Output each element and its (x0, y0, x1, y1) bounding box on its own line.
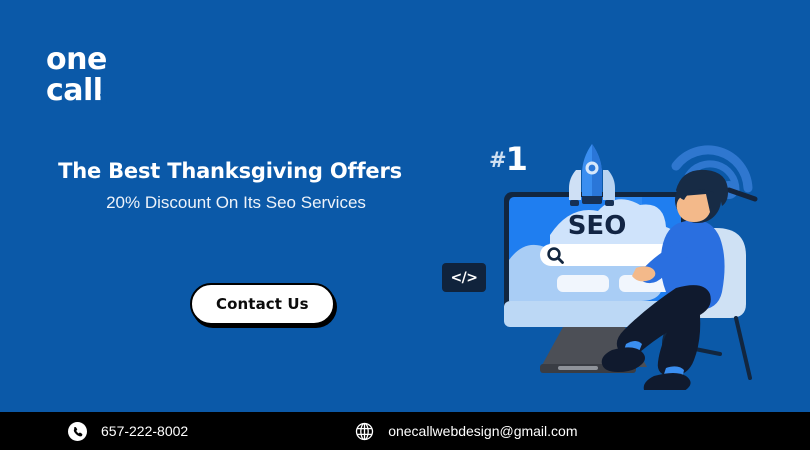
globe-icon (355, 422, 374, 441)
page-subtitle: 20% Discount On Its Seo Services (0, 192, 430, 214)
cta-container: Contact Us (190, 283, 335, 325)
footer-bar: 657-222-8002 onecallwebdesign@gmail.com (0, 412, 810, 450)
rank-number: 1 (506, 140, 527, 178)
rocket-icon (569, 144, 615, 206)
email-address: onecallwebdesign@gmail.com (388, 423, 577, 439)
contact-us-button[interactable]: Contact Us (190, 283, 335, 325)
phone-number: 657-222-8002 (101, 423, 188, 439)
logo-line-one: one (46, 44, 176, 75)
logo-line-call-text: call (46, 73, 103, 108)
brand-logo[interactable]: one call (46, 44, 176, 108)
person-figure-icon (100, 79, 109, 105)
contact-email[interactable]: onecallwebdesign@gmail.com (355, 422, 577, 441)
seo-illustration: SEO (430, 130, 810, 390)
page-title: The Best Thanksgiving Offers (0, 158, 430, 184)
code-badge: </> (442, 263, 486, 292)
rank-badge: #1 (489, 143, 527, 175)
promo-banner: one call The Best Thanksgiving Offers 20… (0, 0, 810, 450)
headline-block: The Best Thanksgiving Offers 20% Discoun… (0, 158, 430, 214)
contact-phone[interactable]: 657-222-8002 (68, 422, 188, 441)
logo-line-call: call (46, 75, 176, 106)
phone-icon (68, 422, 87, 441)
rank-hash: # (489, 148, 506, 172)
screen-seo-text: SEO (568, 211, 627, 241)
